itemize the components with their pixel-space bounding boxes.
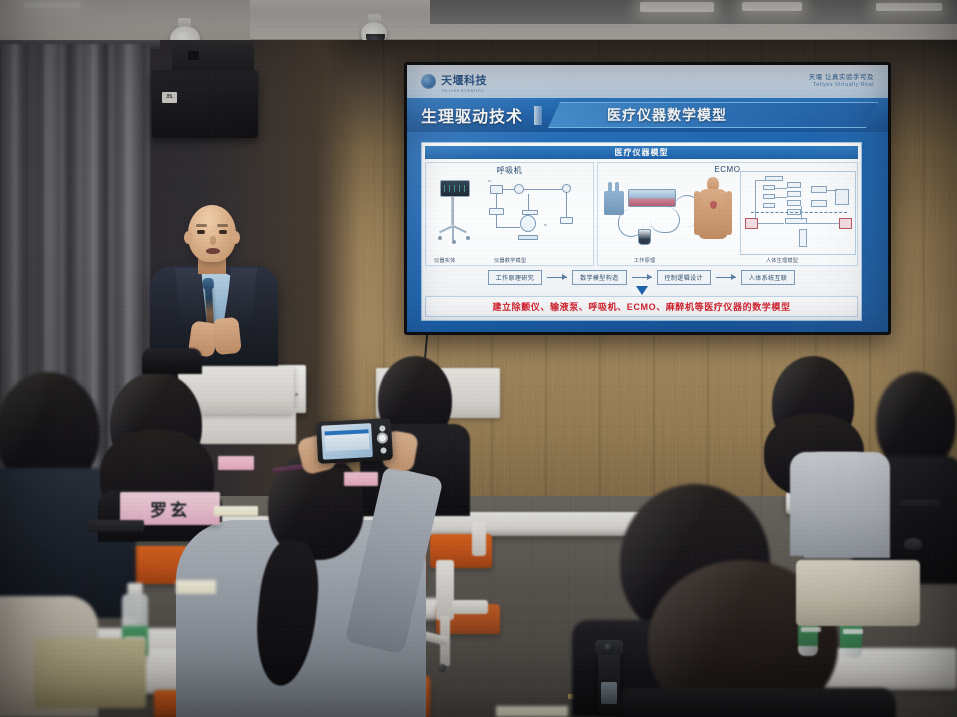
ceiling-light-icon [876,3,942,11]
projector-mount-icon [172,42,254,72]
ceiling-light-icon [24,1,80,8]
panel-ventilator-caption-1: 仪器实体 [434,257,456,264]
flow-step-4: 人体系统互联 [741,270,795,285]
slide-body: 医疗仪器模型 呼吸机 [421,142,862,321]
projector-lens-icon [188,51,199,60]
presenter-nose [210,236,216,245]
pink-note [344,472,378,486]
mouse-icon[interactable] [904,538,922,550]
presenter-hand [212,317,242,356]
presenter-brow [217,224,228,227]
keyboard-icon[interactable] [900,500,940,507]
caster-icon [452,240,456,244]
bottle-cap [128,583,143,595]
flow-step-1: 工作原理研究 [488,270,542,285]
ventilator-pole [451,197,454,225]
flow-arrow-icon [716,277,736,278]
globe-logo-icon [421,74,436,89]
flow-arrow-icon [632,277,652,278]
caster-icon [438,664,446,672]
caster-icon [466,236,470,240]
gimbal-head [595,640,623,655]
photo-scene: JBL 天堰科技 TELLYES SCIENTIFIC 天堰 让真实验手可及 T… [0,0,957,717]
ceiling-light-icon [640,2,714,12]
ceiling-light-icon [742,2,802,11]
presenter-ear [184,231,193,244]
smartphone-camera-icon[interactable] [316,418,393,464]
presenter-mouth [206,248,220,254]
presenter-ear [231,231,240,244]
slide-banner-text: 医疗仪器数学模型 [549,105,727,125]
ecmo-oxygenator-icon [628,189,676,207]
ventilator-base [437,225,471,242]
keyboard-icon[interactable] [88,520,144,532]
ecmo-reservoir-icon [638,229,651,245]
handbag [34,638,146,708]
papers [496,706,568,717]
brand-tagline: 天堰 让真实验手可及 Tellyes Virtually Real [809,74,874,89]
gimbal-camera-icon[interactable] [598,652,620,714]
patient-torso-illustration [694,177,732,251]
presenter-eye [219,230,227,234]
patient-arm [694,191,700,235]
panel-ventilator: 呼吸机 [425,162,594,266]
slide-title-bar: 生理驱动技术 医疗仪器数学模型 [407,98,888,132]
presentation-screen: 天堰科技 TELLYES SCIENTIFIC 天堰 让真实验手可及 Telly… [404,62,891,335]
speaker-brand-badge: JBL [162,92,177,103]
panel-ecmo-caption-2: 人体生理模型 [766,257,798,264]
slide-body-title: 医疗仪器模型 [425,146,858,159]
slide-banner: 医疗仪器数学模型 [548,102,878,128]
ecmo-pump-icon [604,191,624,215]
down-arrow-icon [636,286,648,295]
flow-step-3: 控制逻辑设计 [657,270,711,285]
panel-ecmo-caption-1: 工作原理 [634,257,656,264]
chair-frame [472,522,486,556]
ceiling-slot [250,0,430,12]
patient-heart-icon [710,201,717,209]
base-leg [453,225,467,233]
slide-panels: 呼吸机 [425,162,858,266]
slide-header: 天堰科技 TELLYES SCIENTIFIC 天堰 让真实验手可及 Telly… [407,65,888,98]
presenter-brow [196,224,207,227]
name-plate-text: 罗玄 [150,496,190,521]
tagline-cn: 天堰 让真实验手可及 [809,74,874,82]
papers [176,580,216,594]
physiology-block-diagram [740,171,856,255]
camera-lens-icon [604,643,613,652]
panel-ecmo: ECMO [597,162,858,266]
slide-section-title: 生理驱动技术 [407,103,534,127]
title-divider [534,106,542,125]
panel-ventilator-title: 呼吸机 [426,165,593,176]
flow-arrow-icon [547,277,567,278]
ventilator-display-icon [440,180,470,197]
slide-flow-diagram: 工作原理研究 数学模型构造 控制逻辑设计 人体系统互联 [425,270,858,284]
base-leg [452,226,454,241]
papers [214,506,258,516]
brand-name-cn: 天堰科技 [441,75,487,87]
panel-ventilator-caption-2: 仪器数学模型 [494,257,526,264]
slide-surface: 天堰科技 TELLYES SCIENTIFIC 天堰 让真实验手可及 Telly… [407,65,888,332]
phone-screen [321,423,373,460]
ventilator-device-icon [437,180,471,242]
pink-note [218,456,254,470]
wall-speaker-icon: JBL [152,70,258,138]
microphone-head [202,278,214,291]
slide-conclusion: 建立除颤仪、输液泵、呼吸机、ECMO、麻醉机等医疗仪器的数学模型 [425,296,858,317]
brand-logo: 天堰科技 TELLYES SCIENTIFIC [421,71,487,93]
flow-step-2: 数学模型构造 [572,270,626,285]
handbag [796,560,920,626]
tagline-en: Tellyes Virtually Real [809,82,874,89]
gimbal-screen [601,682,617,704]
brand-name-en: TELLYES SCIENTIFIC [441,89,487,93]
presenter-head [188,205,236,262]
patient-arm [726,191,732,235]
chair-armrest [452,600,488,614]
presenter-eye [197,230,205,234]
patient-body [698,189,728,239]
caster-icon [438,236,442,240]
phone-preview-slide [324,429,369,451]
